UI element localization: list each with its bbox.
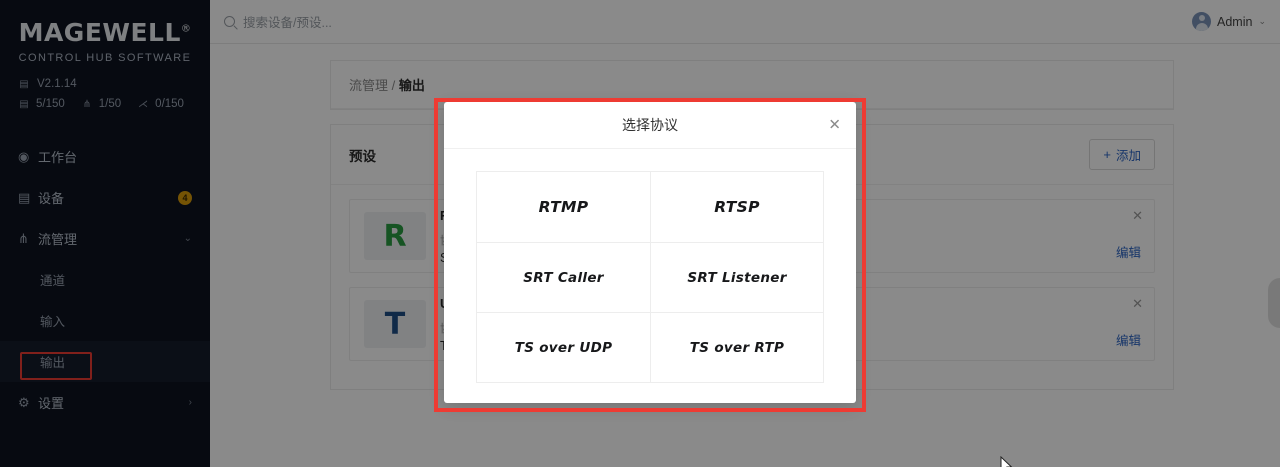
mouse-cursor [1000,456,1014,467]
dialog-title: 选择协议 [622,115,678,135]
protocol-options: RTMP RTSP SRT Caller SRT Listener TS ove… [444,149,856,409]
protocol-option-srt-caller[interactable]: SRT Caller [477,242,650,312]
app-root: MAGEWELL® CONTROL HUB SOFTWARE ▤ V2.1.14… [0,0,1280,467]
protocol-option-rtmp[interactable]: RTMP [477,172,650,242]
protocol-option-ts-over-rtp[interactable]: TS over RTP [650,312,823,382]
protocol-option-ts-over-udp[interactable]: TS over UDP [477,312,650,382]
dialog-header: 选择协议 ✕ [444,102,856,149]
edge-handle[interactable] [1268,278,1280,328]
protocol-dialog: 选择协议 ✕ RTMP RTSP SRT Caller SRT Listener… [444,102,856,403]
protocol-option-rtsp[interactable]: RTSP [650,172,823,242]
protocol-option-srt-listener[interactable]: SRT Listener [650,242,823,312]
protocol-grid: RTMP RTSP SRT Caller SRT Listener TS ove… [476,171,824,383]
close-icon[interactable]: ✕ [828,118,841,133]
